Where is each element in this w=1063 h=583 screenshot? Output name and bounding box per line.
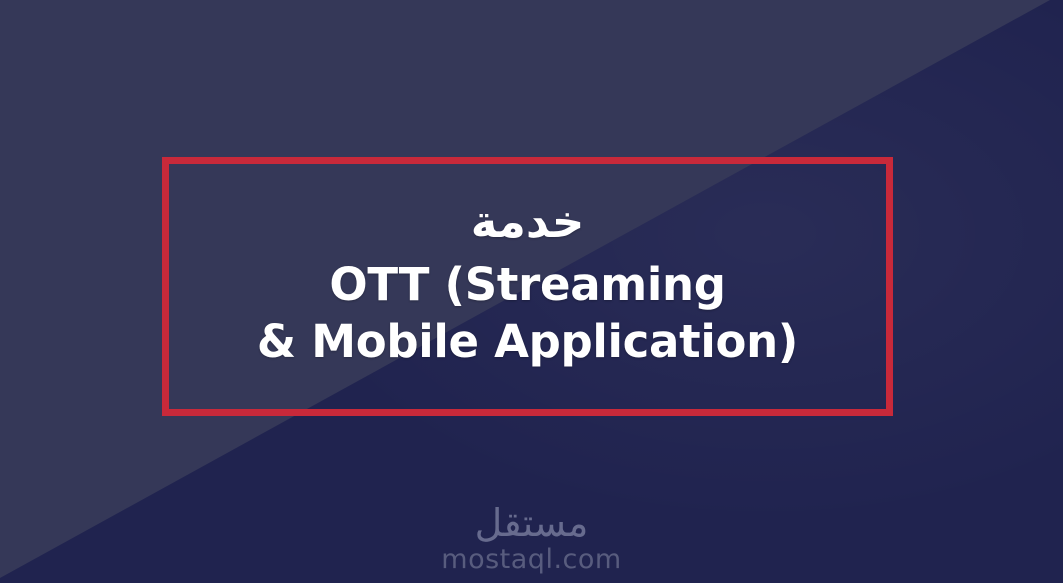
service-banner: خدمة OTT (Streaming & Mobile Application… bbox=[0, 0, 1063, 583]
mostaql-domain-label: mostaql.com bbox=[441, 545, 621, 575]
mostaql-watermark: مستقل mostaql.com bbox=[0, 504, 1063, 575]
title-line-2: & Mobile Application) bbox=[169, 313, 886, 371]
title-line-1: OTT (Streaming bbox=[169, 256, 886, 314]
mostaql-arabic-wordmark: مستقل bbox=[475, 504, 589, 542]
arabic-heading: خدمة bbox=[169, 198, 886, 245]
title-text-group: خدمة OTT (Streaming & Mobile Application… bbox=[169, 198, 886, 374]
title-frame: خدمة OTT (Streaming & Mobile Application… bbox=[162, 157, 893, 416]
